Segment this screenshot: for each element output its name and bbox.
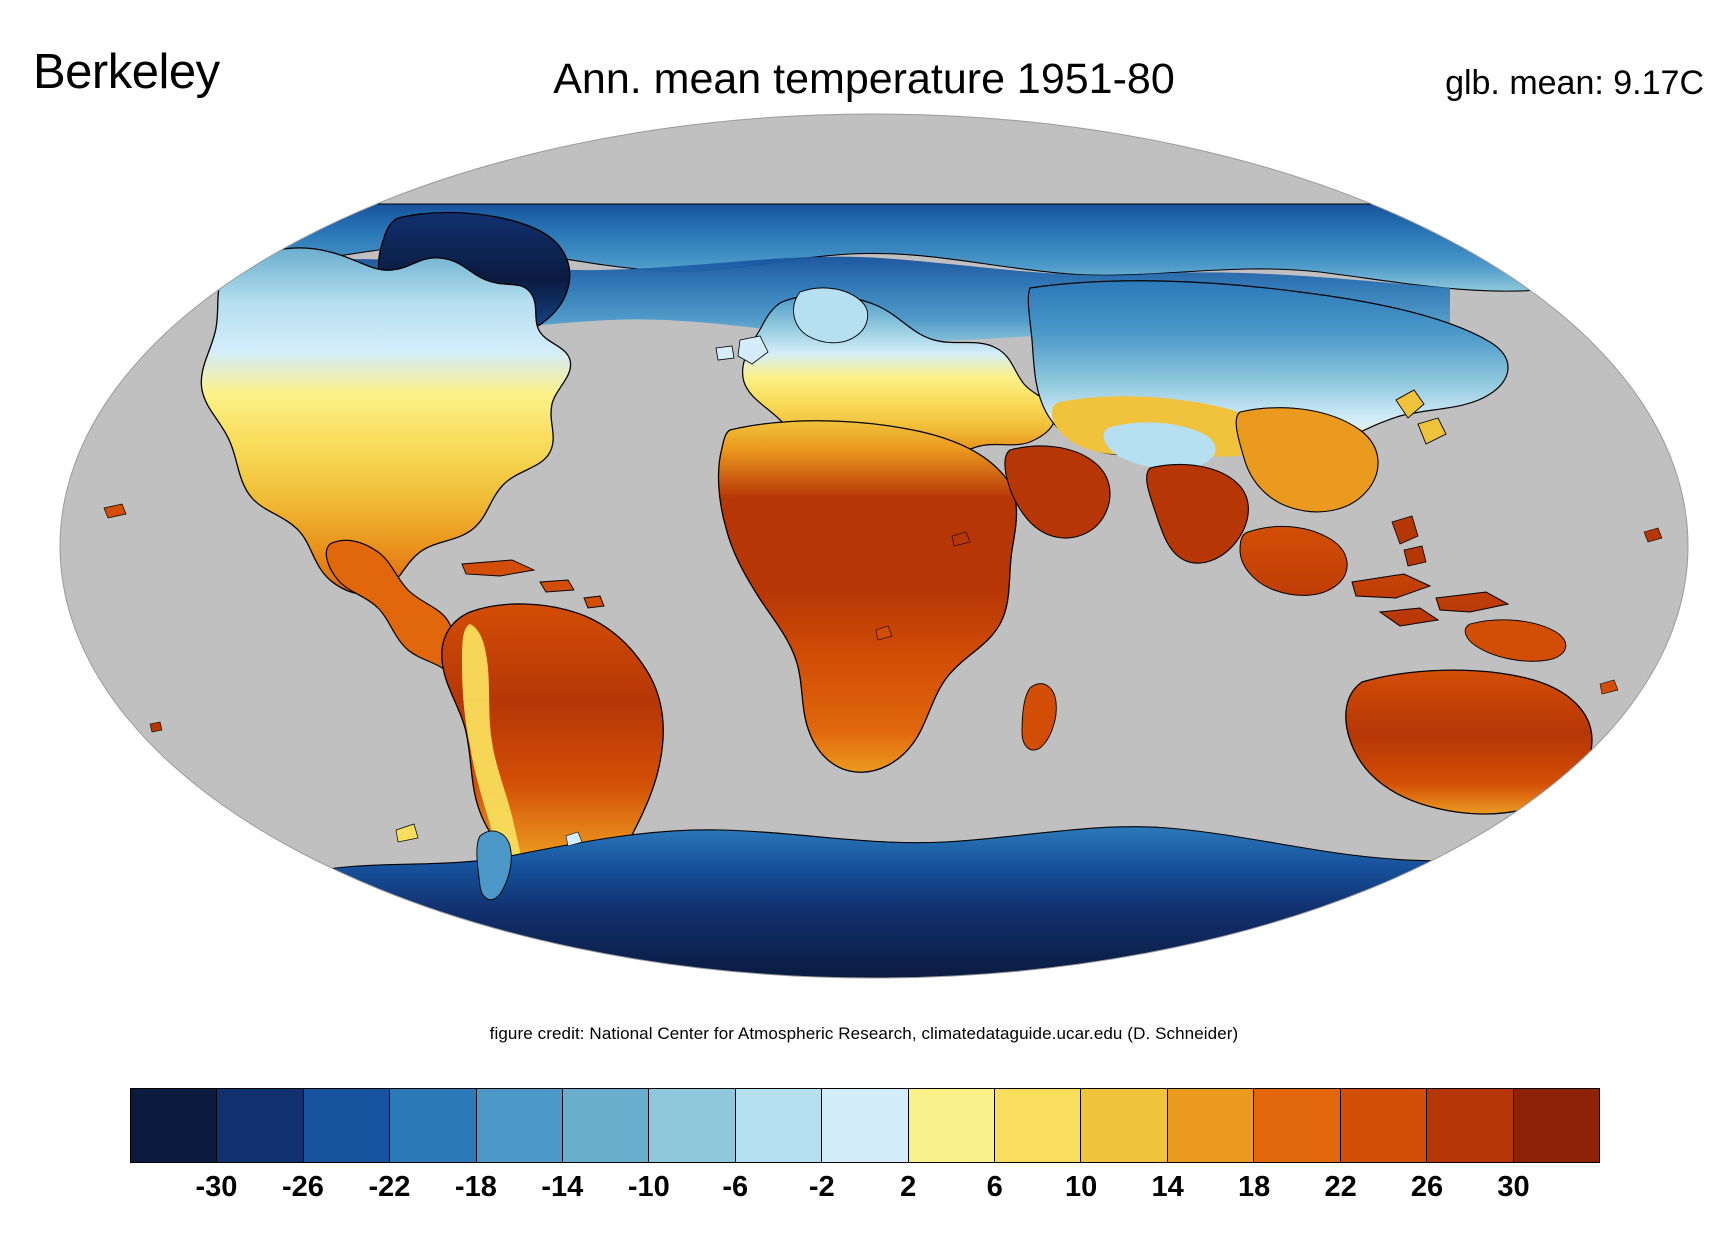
colorbar-tick-labels: -30-26-22-18-14-10-6-226101418222630 <box>130 1165 1600 1199</box>
colorbar-tick-label: -2 <box>809 1173 835 1202</box>
colorbar-tick-label: 22 <box>1324 1173 1356 1202</box>
colorbar-tick-label: 2 <box>900 1173 916 1202</box>
colorbar-swatch <box>563 1089 649 1162</box>
colorbar-tick-label: 26 <box>1411 1173 1443 1202</box>
colorbar-tick-label: -6 <box>722 1173 748 1202</box>
colorbar-tick-label: -26 <box>282 1173 324 1202</box>
figure-credit: figure credit: National Center for Atmos… <box>0 1024 1728 1044</box>
colorbar-swatch <box>909 1089 995 1162</box>
colorbar-swatch <box>477 1089 563 1162</box>
colorbar-swatch <box>649 1089 735 1162</box>
colorbar-swatch <box>1427 1089 1513 1162</box>
colorbar-legend: -30-26-22-18-14-10-6-226101418222630 <box>0 1088 1728 1198</box>
colorbar-swatch <box>1254 1089 1340 1162</box>
colorbar-swatch <box>131 1089 217 1162</box>
global-mean-annotation: glb. mean: 9.17C <box>1445 66 1704 100</box>
colorbar-swatch <box>736 1089 822 1162</box>
colorbar-swatch <box>1168 1089 1254 1162</box>
colorbar-swatch <box>822 1089 908 1162</box>
colorbar-tick-label: 30 <box>1497 1173 1529 1202</box>
colorbar-tick-label: -30 <box>196 1173 238 1202</box>
colorbar-tick-label: -18 <box>455 1173 497 1202</box>
world-temperature-map <box>0 112 1728 984</box>
colorbar-tick-label: -14 <box>541 1173 583 1202</box>
colorbar-swatches <box>130 1088 1600 1163</box>
colorbar-swatch <box>217 1089 303 1162</box>
colorbar-tick-label: 14 <box>1152 1173 1184 1202</box>
colorbar-swatch <box>1081 1089 1167 1162</box>
colorbar-swatch <box>1341 1089 1427 1162</box>
colorbar-swatch <box>304 1089 390 1162</box>
colorbar-tick-label: 10 <box>1065 1173 1097 1202</box>
colorbar-swatch <box>390 1089 476 1162</box>
colorbar-swatch <box>1514 1089 1599 1162</box>
map-canvas <box>0 112 1728 984</box>
colorbar-tick-label: 6 <box>987 1173 1003 1202</box>
globe-disc <box>60 114 1688 978</box>
colorbar-tick-label: 18 <box>1238 1173 1270 1202</box>
colorbar-tick-label: -10 <box>628 1173 670 1202</box>
colorbar-tick-label: -22 <box>368 1173 410 1202</box>
chart-header: Berkeley Ann. mean temperature 1951-80 g… <box>0 0 1728 118</box>
colorbar-swatch <box>995 1089 1081 1162</box>
